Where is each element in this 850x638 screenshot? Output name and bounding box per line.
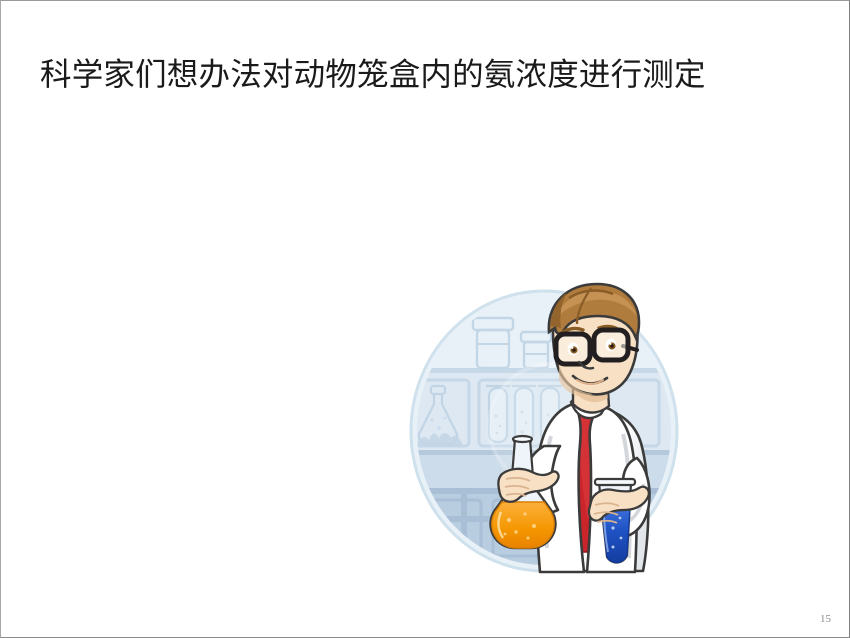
page-title: 科学家们想办法对动物笼盒内的氨浓度进行测定	[40, 54, 800, 94]
slide-canvas: 科学家们想办法对动物笼盒内的氨浓度进行测定	[0, 0, 850, 638]
illustration-cartoon-scientist	[401, 276, 701, 576]
page-number: 15	[820, 613, 831, 625]
